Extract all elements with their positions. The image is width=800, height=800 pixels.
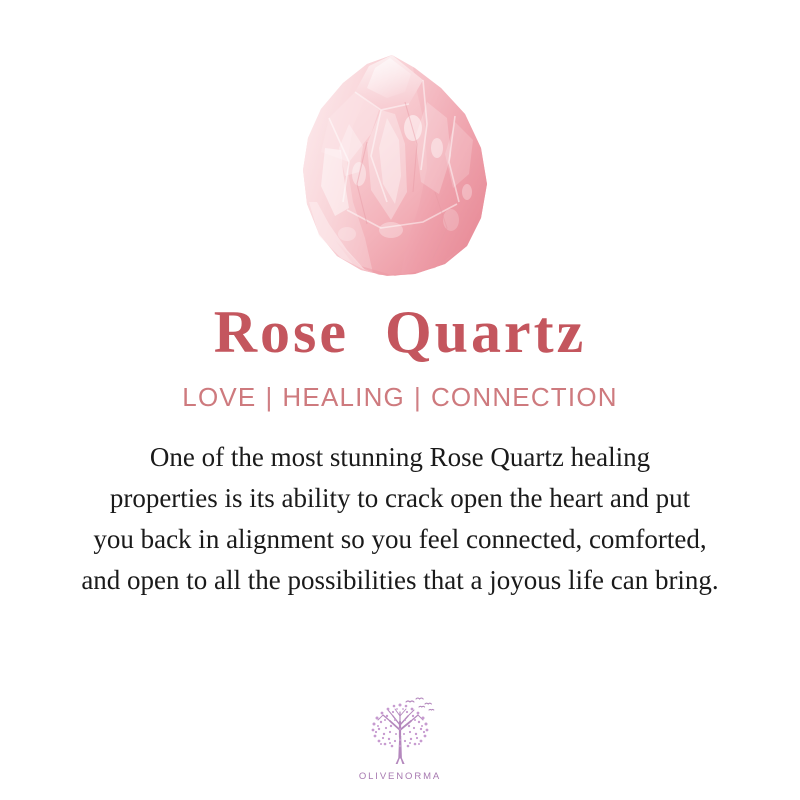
description-line: properties is its ability to crack open … <box>20 478 780 519</box>
crystal-image-area <box>0 0 800 300</box>
page-title: Rose Quartz <box>214 300 587 364</box>
rose-quartz-crystal-image <box>295 52 491 280</box>
keyword-separator: | <box>405 384 431 410</box>
brand-name: OLIVENORMA <box>359 771 441 782</box>
keyword-connection: CONNECTION <box>431 384 618 410</box>
description-line: One of the most stunning Rose Quartz hea… <box>20 437 780 478</box>
product-description: One of the most stunning Rose Quartz hea… <box>20 437 780 601</box>
description-line: you back in alignment so you feel connec… <box>20 519 780 560</box>
keyword-healing: HEALING <box>282 384 405 410</box>
rose-quartz-crystal-icon <box>295 52 491 280</box>
product-info-card: Rose Quartz LOVE | HEALING | CONNECTION … <box>0 0 800 800</box>
keyword-separator: | <box>256 384 282 410</box>
brand-logo: OLIVENORMA <box>0 696 800 782</box>
tree-of-life-icon <box>357 696 443 768</box>
keyword-list: LOVE | HEALING | CONNECTION <box>182 384 617 410</box>
description-line: and open to all the possibilities that a… <box>20 560 780 601</box>
keyword-love: LOVE <box>182 384 256 410</box>
